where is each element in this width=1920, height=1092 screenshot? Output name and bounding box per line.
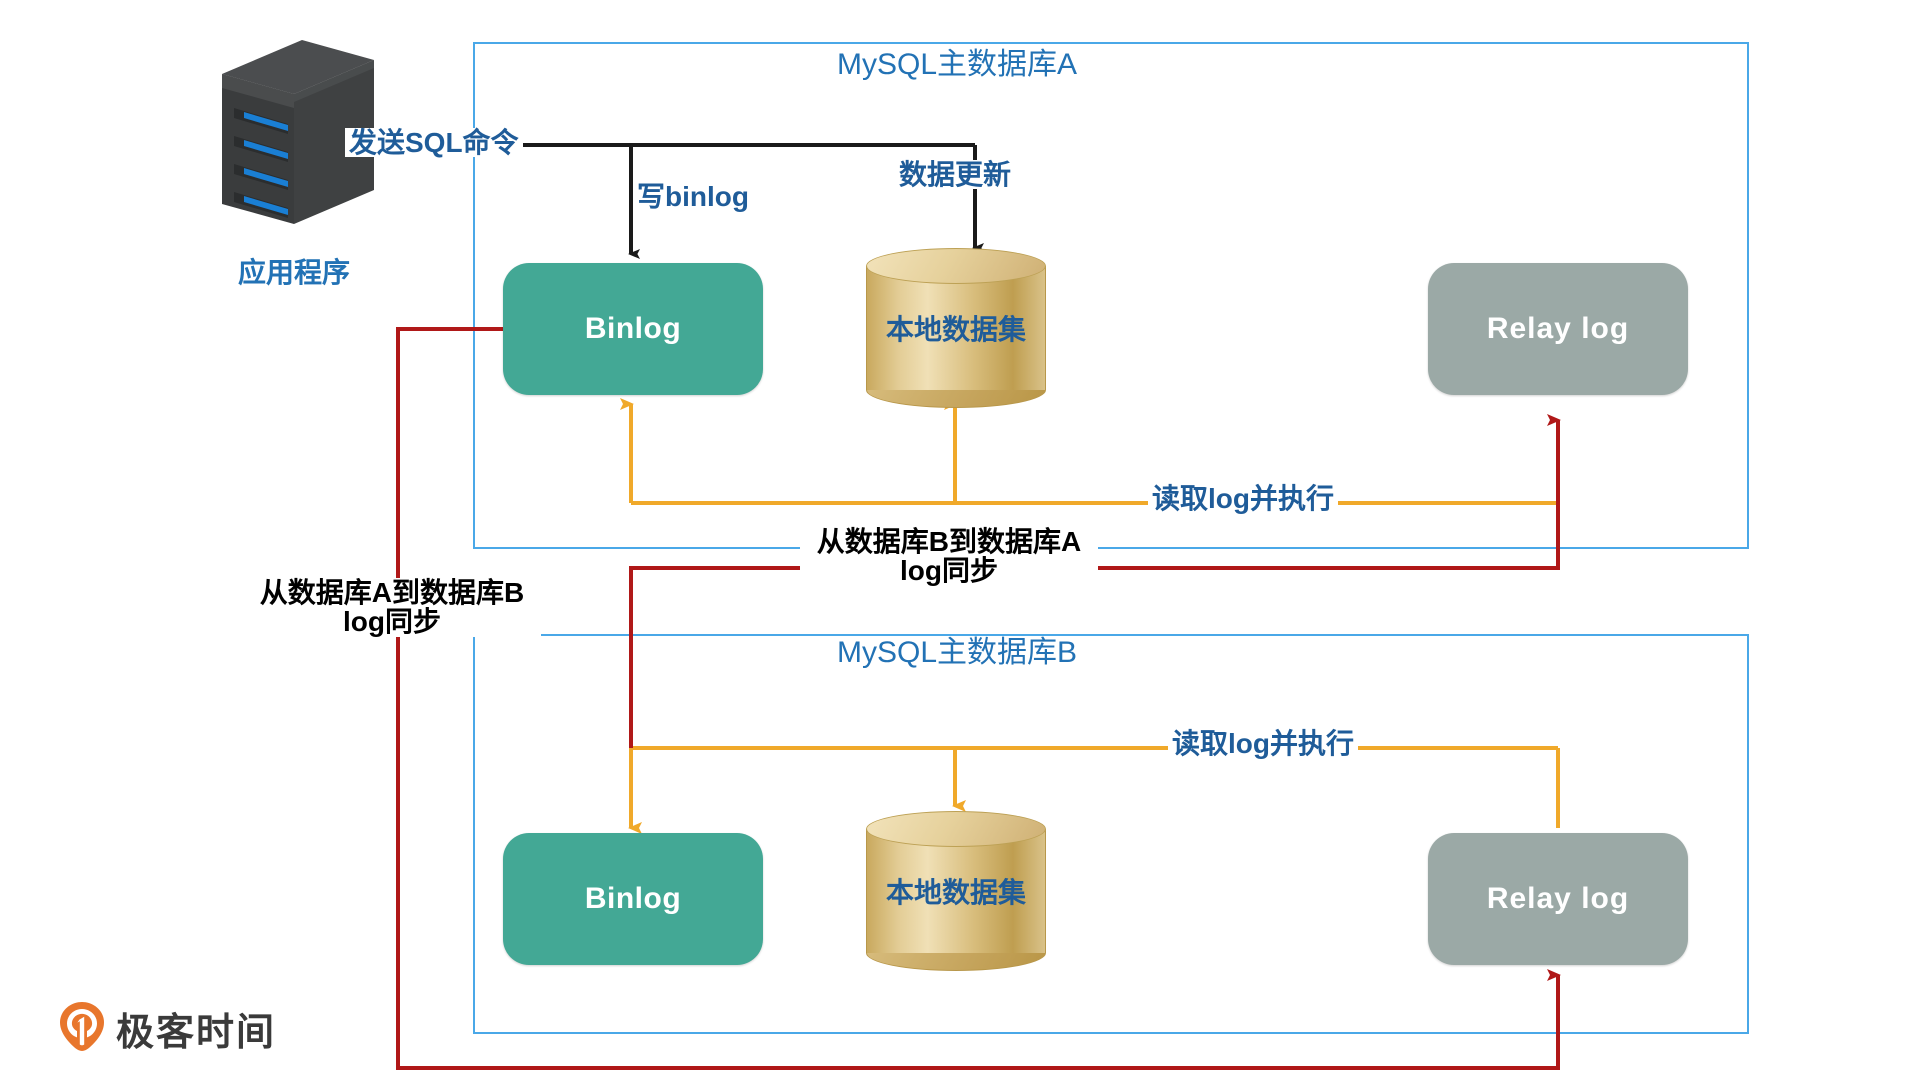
node-dataset-b-label: 本地数据集 [866, 871, 1046, 911]
application-caption: 应用程序 [238, 258, 350, 287]
diagram-canvas: MySQL主数据库A MySQL主数据库B [0, 0, 1920, 1092]
label-sync-a-to-b-line1: 从数据库A到数据库B [247, 578, 537, 607]
cylinder-top-b [866, 811, 1046, 847]
label-read-log-exec-b: 读取log并执行 [1168, 729, 1358, 758]
label-data-update: 数据更新 [895, 160, 1015, 189]
geekbang-logo-icon [58, 1000, 106, 1057]
label-sync-a-to-b-line2: log同步 [247, 607, 537, 636]
label-sync-b-to-a-line1: 从数据库B到数据库A [804, 527, 1094, 556]
label-write-binlog: 写binlog [633, 182, 753, 211]
node-relay-b[interactable]: Relay log [1428, 833, 1688, 965]
node-binlog-b[interactable]: Binlog [503, 833, 763, 965]
label-sync-a-to-b: 从数据库A到数据库B log同步 [243, 578, 541, 637]
geekbang-logo: 极客时间 [58, 1000, 276, 1057]
label-send-sql: 发送SQL命令 [345, 128, 523, 157]
cylinder-top-a [866, 248, 1046, 284]
edge-read-log-exec-a [631, 404, 1558, 503]
label-sync-b-to-a: 从数据库B到数据库A log同步 [800, 527, 1098, 586]
node-dataset-a-label: 本地数据集 [866, 308, 1046, 348]
node-binlog-a-label: Binlog [585, 312, 681, 346]
label-read-log-exec-a: 读取log并执行 [1148, 484, 1338, 513]
node-binlog-a[interactable]: Binlog [503, 263, 763, 395]
node-dataset-b[interactable]: 本地数据集 [866, 811, 1046, 971]
label-sync-b-to-a-line2: log同步 [804, 556, 1094, 585]
geekbang-logo-text: 极客时间 [116, 1001, 276, 1056]
node-dataset-a[interactable]: 本地数据集 [866, 248, 1046, 408]
node-relay-a[interactable]: Relay log [1428, 263, 1688, 395]
node-relay-a-label: Relay log [1487, 312, 1629, 346]
node-relay-b-label: Relay log [1487, 882, 1629, 916]
node-binlog-b-label: Binlog [585, 882, 681, 916]
edge-read-log-exec-b [631, 748, 1558, 828]
